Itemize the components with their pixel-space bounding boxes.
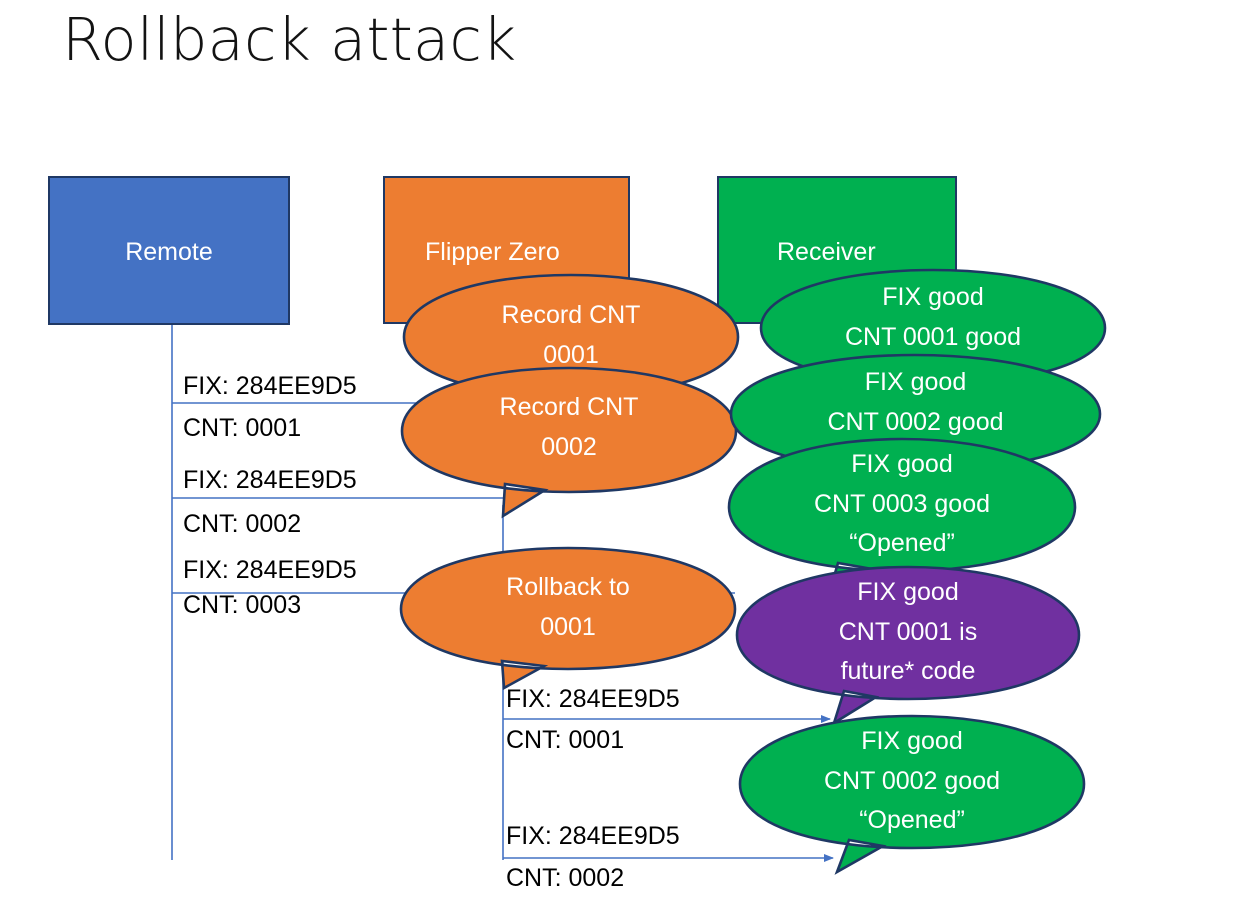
callout-text-ok-0003-opened: FIX good CNT 0003 good “Opened”	[726, 445, 1078, 564]
callout-rollback-0001[interactable]: Rollback to 0001	[398, 546, 738, 674]
callout-future-code-warning[interactable]: FIX good CNT 0001 is future* code	[734, 565, 1082, 705]
message-cnt-m1: CNT: 0001	[183, 414, 301, 443]
message-fix-m4: FIX: 284EE9D5	[506, 685, 680, 714]
actor-label-receiver: Receiver	[777, 238, 955, 267]
callout-text-rollback-0001: Rollback to 0001	[398, 568, 738, 647]
callout-text-record-0001: Record CNT 0001	[401, 296, 741, 375]
message-cnt-m5: CNT: 0002	[506, 864, 624, 893]
message-fix-m3: FIX: 284EE9D5	[183, 556, 357, 585]
message-fix-m2: FIX: 284EE9D5	[183, 466, 357, 495]
callout-text-record-0002: Record CNT 0002	[399, 388, 739, 467]
callout-text-ok-0002: FIX good CNT 0002 good	[728, 363, 1103, 442]
message-fix-m5: FIX: 284EE9D5	[506, 822, 680, 851]
message-fix-m1: FIX: 284EE9D5	[183, 372, 357, 401]
slide-canvas: Rollback attack Remote Flip	[0, 0, 1233, 898]
actor-label-remote: Remote	[50, 238, 288, 267]
callout-text-ok-0002-opened: FIX good CNT 0002 good “Opened”	[737, 722, 1087, 841]
callout-text-future-code-warning: FIX good CNT 0001 is future* code	[734, 573, 1082, 692]
message-cnt-m3: CNT: 0003	[183, 591, 301, 620]
message-cnt-m2: CNT: 0002	[183, 510, 301, 539]
callout-record-0002[interactable]: Record CNT 0002	[399, 366, 739, 496]
actor-label-flipper: Flipper Zero	[425, 238, 628, 267]
message-cnt-m4: CNT: 0001	[506, 726, 624, 755]
callout-ok-0003-opened[interactable]: FIX good CNT 0003 good “Opened”	[726, 437, 1078, 575]
actor-box-remote[interactable]: Remote	[48, 176, 290, 325]
callout-text-ok-0001: FIX good CNT 0001 good	[758, 278, 1108, 357]
callout-ok-0002-opened[interactable]: FIX good CNT 0002 good “Opened”	[737, 714, 1087, 854]
